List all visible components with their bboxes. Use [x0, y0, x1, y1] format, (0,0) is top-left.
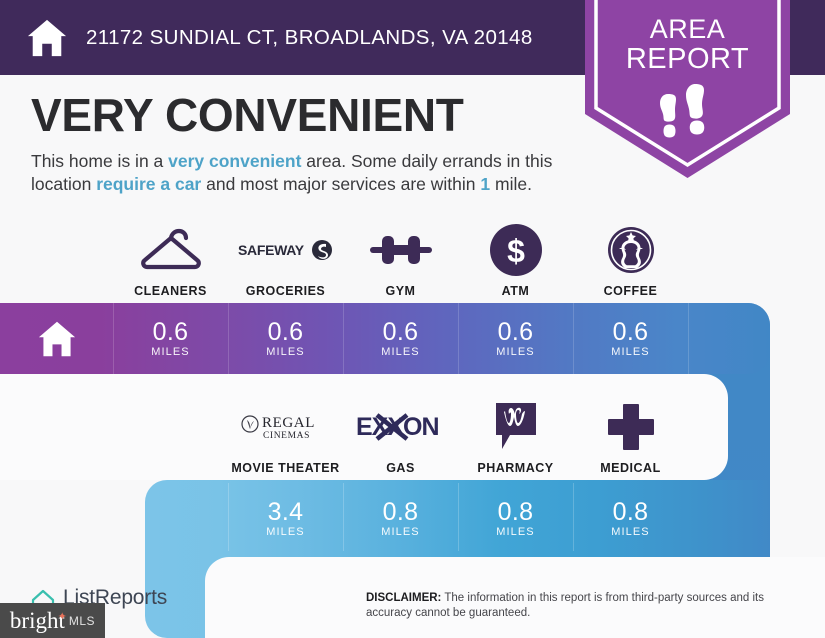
starbucks-logo [573, 225, 688, 275]
badge-shape [585, 0, 790, 178]
category-gym: GYM [343, 218, 458, 298]
svg-text:SAFEWAY: SAFEWAY [238, 242, 305, 258]
distance-unit: MILES [381, 346, 420, 358]
distance-unit: MILES [381, 526, 420, 538]
medical-cross-icon [573, 402, 688, 452]
category-pharmacy: PHARMACY [458, 395, 573, 475]
distance-unit: MILES [266, 346, 305, 358]
distance-value: 3.4 [268, 499, 304, 525]
distance-unit: MILES [611, 526, 650, 538]
svg-text:REGAL: REGAL [262, 415, 315, 431]
distance-cell-coffee: 0.6 MILES [573, 303, 688, 374]
category-label: GROCERIES [246, 284, 326, 298]
walgreens-logo [458, 402, 573, 452]
distance-cell-cleaners: 0.6 MILES [113, 303, 228, 374]
category-movie-theater: REGAL CINEMAS MOVIE THEATER [228, 395, 343, 475]
hero-section: VERY CONVENIENT This home is in a very c… [31, 88, 591, 196]
distance-cell-groceries: 0.6 MILES [228, 303, 343, 374]
walgreens-logo-shape [492, 401, 540, 453]
medical-cross-icon-shape [607, 403, 655, 451]
hero-text-3: and most major services are within [201, 174, 480, 194]
hero-highlight-1: very convenient [168, 151, 301, 171]
regal-cinemas-logo-shape: REGAL CINEMAS [240, 412, 332, 442]
svg-text:CINEMAS: CINEMAS [263, 431, 310, 441]
distance-unit: MILES [496, 526, 535, 538]
starbucks-logo-shape [606, 225, 656, 275]
exxon-logo: EXXON [343, 402, 458, 452]
brightmls-star-icon: ✦ [58, 610, 67, 623]
dollar-circle-icon: $ [458, 225, 573, 275]
exxon-logo-shape: EXXON [355, 411, 447, 443]
category-groceries: SAFEWAY GROCERIES [228, 218, 343, 298]
category-coffee: COFFEE [573, 218, 688, 298]
icon-row-2: REGAL CINEMAS MOVIE THEATER EXXON GAS [228, 395, 688, 475]
distance-value: 0.6 [613, 319, 649, 345]
distance-value: 0.6 [268, 319, 304, 345]
distance-unit: MILES [611, 346, 650, 358]
distance-cell-gas: 0.8 MILES [343, 483, 458, 554]
distance-unit: MILES [496, 346, 535, 358]
distance-unit: MILES [151, 346, 190, 358]
hero-text-1: This home is in a [31, 151, 168, 171]
page-title: VERY CONVENIENT [31, 88, 591, 142]
home-marker [0, 303, 113, 374]
svg-text:EXXON: EXXON [356, 413, 439, 441]
category-label: CLEANERS [134, 284, 207, 298]
home-icon [37, 320, 77, 358]
category-label: ATM [502, 284, 530, 298]
distance-unit: MILES [266, 526, 305, 538]
header-content: 21172 SUNDIAL CT, BROADLANDS, VA 20148 [26, 0, 533, 75]
distance-value: 0.8 [613, 499, 649, 525]
distance-value: 0.8 [383, 499, 419, 525]
brightmls-name: bright✦ [10, 608, 65, 634]
dumbbell-icon-shape [370, 228, 432, 272]
regal-cinemas-logo: REGAL CINEMAS [228, 402, 343, 452]
distance-value: 0.6 [153, 319, 189, 345]
category-label: MOVIE THEATER [231, 461, 339, 475]
safeway-logo-shape: SAFEWAY [238, 238, 334, 262]
area-report-page: 21172 SUNDIAL CT, BROADLANDS, VA 20148 A… [0, 0, 825, 638]
safeway-logo: SAFEWAY [228, 225, 343, 275]
category-gas: EXXON GAS [343, 395, 458, 475]
distance-cell-gym: 0.6 MILES [343, 303, 458, 374]
disclaimer-label: DISCLAIMER: [366, 592, 441, 604]
distance-cell-movie-theater: 3.4 MILES [228, 483, 343, 554]
disclaimer: DISCLAIMER: The information in this repo… [366, 591, 786, 621]
hero-highlight-3: 1 [480, 174, 490, 194]
area-report-badge: AREA REPORT [585, 0, 790, 178]
category-atm: $ ATM [458, 218, 573, 298]
home-icon [26, 18, 68, 58]
dollar-circle-icon-shape: $ [490, 224, 542, 276]
hanger-icon [113, 225, 228, 275]
distance-cell-atm: 0.6 MILES [458, 303, 573, 374]
hero-highlight-2: require a car [96, 174, 201, 194]
brightmls-watermark: bright✦ MLS [0, 603, 105, 638]
category-label: PHARMACY [477, 461, 553, 475]
brightmls-suffix: MLS [69, 614, 95, 628]
distance-value: 0.6 [498, 319, 534, 345]
distance-value: 0.6 [383, 319, 419, 345]
hero-text-4: mile. [490, 174, 532, 194]
distance-cell-medical: 0.8 MILES [573, 483, 688, 554]
svg-text:$: $ [507, 233, 525, 269]
icon-row-1: CLEANERS SAFEWAY GROCERIES [113, 218, 688, 298]
category-label: GYM [386, 284, 416, 298]
property-address: 21172 SUNDIAL CT, BROADLANDS, VA 20148 [86, 26, 533, 50]
hero-description: This home is in a very convenient area. … [31, 150, 576, 196]
category-label: COFFEE [604, 284, 658, 298]
category-label: MEDICAL [600, 461, 660, 475]
category-medical: MEDICAL [573, 395, 688, 475]
distance-value: 0.8 [498, 499, 534, 525]
dumbbell-icon [343, 225, 458, 275]
hanger-icon-shape [139, 228, 203, 272]
category-label: GAS [386, 461, 415, 475]
category-cleaners: CLEANERS [113, 218, 228, 298]
distance-cell-pharmacy: 0.8 MILES [458, 483, 573, 554]
